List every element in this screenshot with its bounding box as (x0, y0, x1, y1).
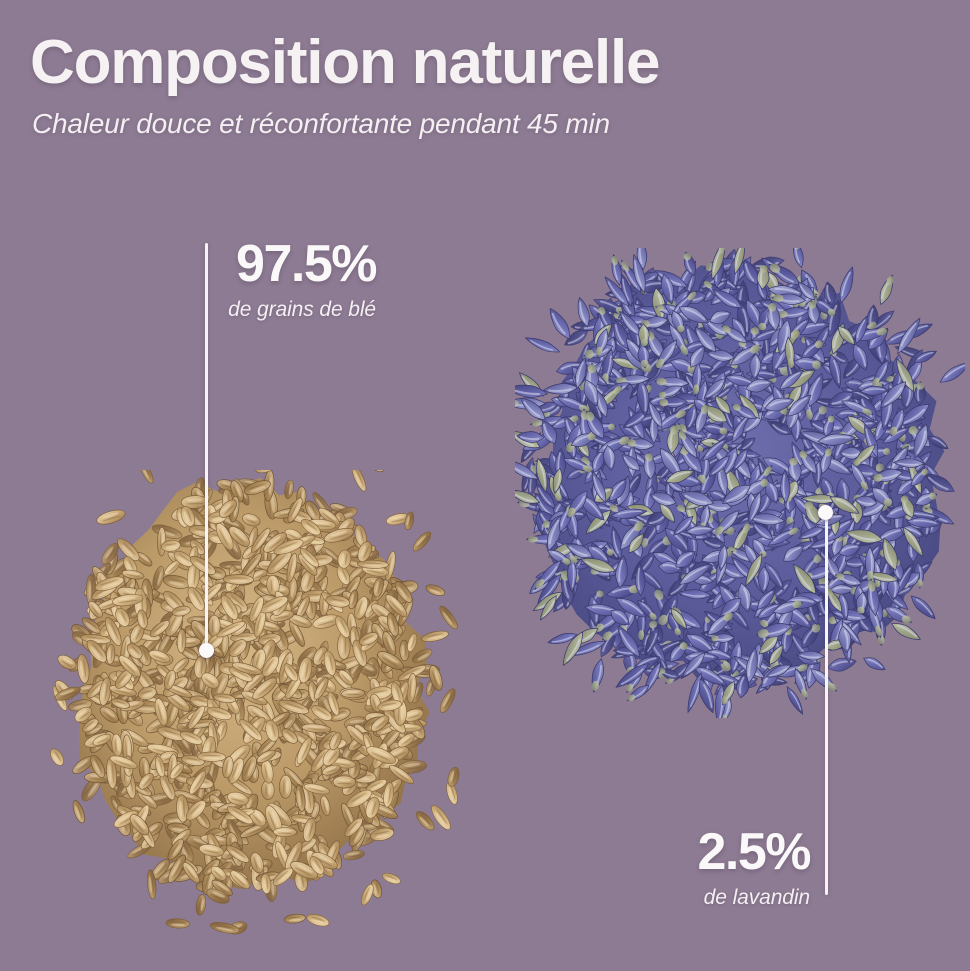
callout-wheat: 97.5% de grains de blé (110, 238, 376, 320)
composition-infographic: Composition naturelle Chaleur douce et r… (0, 0, 970, 971)
wheat-pile-image (50, 470, 460, 935)
leader-dot-lavender (818, 505, 833, 520)
callout-lavender: 2.5% de lavandin (560, 826, 810, 908)
page-title: Composition naturelle (30, 32, 930, 94)
leader-dot-wheat (199, 643, 214, 658)
page-subtitle: Chaleur douce et réconfortante pendant 4… (32, 108, 930, 140)
callout-wheat-percent: 97.5% (110, 238, 376, 290)
callout-lavender-caption: de lavandin (560, 887, 810, 908)
callout-lavender-percent: 2.5% (560, 826, 810, 878)
header-block: Composition naturelle Chaleur douce et r… (30, 32, 930, 140)
callout-wheat-caption: de grains de blé (110, 299, 376, 320)
lavender-pile-image (515, 248, 965, 718)
leader-line-lavender (825, 515, 828, 895)
